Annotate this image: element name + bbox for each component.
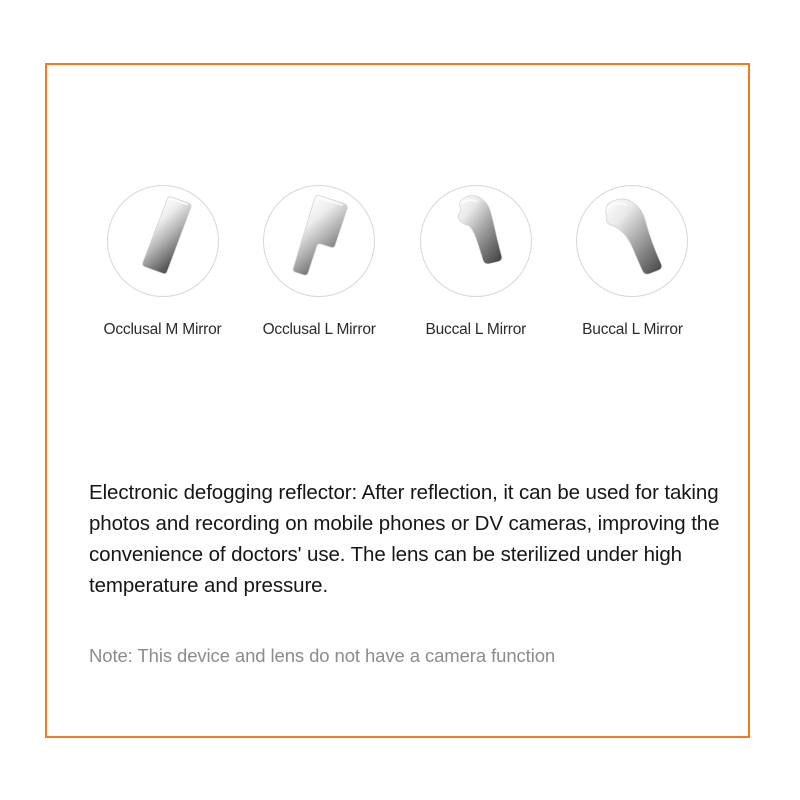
mirror-label: Occlusal M Mirror <box>103 321 221 339</box>
mirror-gallery: Occlusal M Mirror <box>47 185 748 339</box>
mirror-item-occlusal-l[interactable]: Occlusal L Mirror <box>242 185 397 339</box>
occlusal-m-mirror-icon <box>108 186 218 296</box>
note-paragraph: Note: This device and lens do not have a… <box>89 643 721 669</box>
mirror-thumbnail-circle[interactable] <box>263 185 375 297</box>
buccal-l-mirror-icon-1 <box>421 186 531 296</box>
mirror-label: Buccal L Mirror <box>425 321 526 339</box>
occlusal-l-mirror-icon <box>264 186 374 296</box>
mirror-item-occlusal-m[interactable]: Occlusal M Mirror <box>85 185 240 339</box>
product-info-card: Occlusal M Mirror <box>45 63 750 738</box>
buccal-l-mirror-icon-2 <box>577 186 687 296</box>
description-block: Electronic defogging reflector: After re… <box>89 477 721 669</box>
mirror-item-buccal-l-2[interactable]: Buccal L Mirror <box>555 185 710 339</box>
description-paragraph: Electronic defogging reflector: After re… <box>89 477 721 601</box>
mirror-item-buccal-l-1[interactable]: Buccal L Mirror <box>398 185 553 339</box>
mirror-thumbnail-circle[interactable] <box>107 185 219 297</box>
mirror-thumbnail-circle[interactable] <box>576 185 688 297</box>
mirror-label: Occlusal L Mirror <box>263 321 376 339</box>
mirror-thumbnail-circle[interactable] <box>420 185 532 297</box>
mirror-label: Buccal L Mirror <box>582 321 683 339</box>
